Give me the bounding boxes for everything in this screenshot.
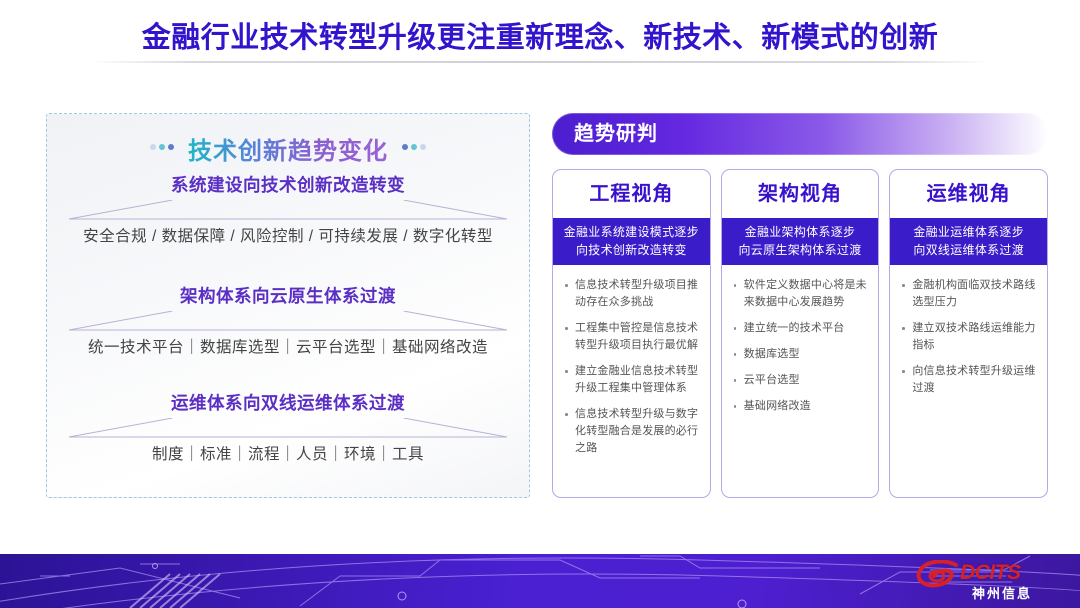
title-divider (88, 61, 992, 63)
list-item: 向信息技术转型升级运维过渡 (896, 363, 1039, 397)
logo-chinese-name: 神州信息 (972, 583, 1032, 602)
funnel-divider-icon (65, 418, 511, 439)
card-subtitle-line: 向双线运维体系过渡 (894, 241, 1043, 259)
card-title: 架构视角 (722, 170, 879, 218)
company-logo: DCITS 神州信息 (916, 560, 1066, 602)
list-item: 软件定义数据中心将是未来数据中心发展趋势 (728, 277, 871, 311)
card-subtitle-line: 金融业运维体系逐步 (894, 223, 1043, 241)
perspective-card-architecture[interactable]: 架构视角 金融业架构体系逐步 向云原生架构体系过渡 软件定义数据中心将是未来数据… (721, 169, 880, 498)
list-item: 云平台选型 (728, 372, 871, 389)
card-subtitle-line: 金融业架构体系逐步 (726, 223, 875, 241)
decorative-dots-left-icon (150, 144, 174, 153)
logo-wordmark: DCITS (960, 561, 1021, 585)
trend-group-title: 架构体系向云原生体系过渡 (65, 287, 511, 306)
trend-group: 系统建设向技术创新改造转变 安全合规 / 数据保障 / 风险控制 / 可持续发展… (65, 176, 511, 246)
list-item: 基础网络改造 (728, 398, 871, 415)
card-subtitle: 金融业运维体系逐步 向双线运维体系过渡 (890, 218, 1047, 265)
list-item: 信息技术转型升级与数字化转型融合是发展的必行之路 (559, 406, 702, 457)
funnel-divider-icon (65, 311, 511, 332)
card-bullet-list: 金融机构面临双技术路线选型压力 建立双技术路线运维能力指标 向信息技术转型升级运… (890, 265, 1047, 497)
card-title: 运维视角 (890, 170, 1047, 218)
footer-banner: DCITS 神州信息 (0, 554, 1080, 608)
list-item: 建立统一的技术平台 (728, 320, 871, 337)
card-subtitle: 金融业架构体系逐步 向云原生架构体系过渡 (722, 218, 879, 265)
funnel-divider-icon (65, 200, 511, 221)
list-item: 金融机构面临双技术路线选型压力 (896, 277, 1039, 311)
left-panel-heading-label: 技术创新趋势变化 (188, 131, 388, 166)
trend-change-panel: 技术创新趋势变化 系统建设向技术创新改造转变 安全合规 / 数据保障 / 风险控… (46, 113, 530, 498)
list-item: 建立金融业信息技术转型升级工程集中管理体系 (559, 363, 702, 397)
dcits-swirl-icon (916, 560, 960, 590)
card-bullet-list: 软件定义数据中心将是未来数据中心发展趋势 建立统一的技术平台 数据库选型 云平台… (722, 265, 879, 497)
card-subtitle: 金融业系统建设模式逐步 向技术创新改造转变 (553, 218, 710, 265)
list-item: 建立双技术路线运维能力指标 (896, 320, 1039, 354)
trend-group-title: 系统建设向技术创新改造转变 (65, 176, 511, 195)
page-title: 金融行业技术转型升级更注重新理念、新技术、新模式的创新 (0, 14, 1080, 56)
card-subtitle-line: 向技术创新改造转变 (557, 241, 706, 259)
trend-group: 架构体系向云原生体系过渡 统一技术平台｜数据库选型｜云平台选型｜基础网络改造 (65, 287, 511, 357)
trend-judgement-panel: 趋势研判 工程视角 金融业系统建设模式逐步 向技术创新改造转变 信息技术转型升级… (552, 113, 1048, 498)
perspective-card-operations[interactable]: 运维视角 金融业运维体系逐步 向双线运维体系过渡 金融机构面临双技术路线选型压力… (889, 169, 1048, 498)
left-panel-heading: 技术创新趋势变化 (47, 131, 529, 165)
decorative-dots-right-icon (402, 144, 426, 153)
card-title: 工程视角 (553, 170, 710, 218)
trend-judgement-header-label: 趋势研判 (574, 113, 658, 155)
list-item: 信息技术转型升级项目推动存在众多挑战 (559, 277, 702, 311)
trend-group-items: 制度｜标准｜流程｜人员｜环境｜工具 (65, 442, 511, 464)
list-item: 工程集中管控是信息技术转型升级项目执行最优解 (559, 320, 702, 354)
slide-header: 金融行业技术转型升级更注重新理念、新技术、新模式的创新 (0, 0, 1080, 66)
trend-group-title: 运维体系向双线运维体系过渡 (65, 394, 511, 413)
card-subtitle-line: 金融业系统建设模式逐步 (557, 223, 706, 241)
card-bullet-list: 信息技术转型升级项目推动存在众多挑战 工程集中管控是信息技术转型升级项目执行最优… (553, 265, 710, 497)
trend-group: 运维体系向双线运维体系过渡 制度｜标准｜流程｜人员｜环境｜工具 (65, 394, 511, 464)
perspective-card-list: 工程视角 金融业系统建设模式逐步 向技术创新改造转变 信息技术转型升级项目推动存… (552, 169, 1048, 498)
card-subtitle-line: 向云原生架构体系过渡 (726, 241, 875, 259)
list-item: 数据库选型 (728, 346, 871, 363)
trend-group-items: 安全合规 / 数据保障 / 风险控制 / 可持续发展 / 数字化转型 (65, 224, 511, 246)
perspective-card-engineering[interactable]: 工程视角 金融业系统建设模式逐步 向技术创新改造转变 信息技术转型升级项目推动存… (552, 169, 711, 498)
trend-group-items: 统一技术平台｜数据库选型｜云平台选型｜基础网络改造 (65, 335, 511, 357)
trend-judgement-header: 趋势研判 (552, 113, 1048, 155)
